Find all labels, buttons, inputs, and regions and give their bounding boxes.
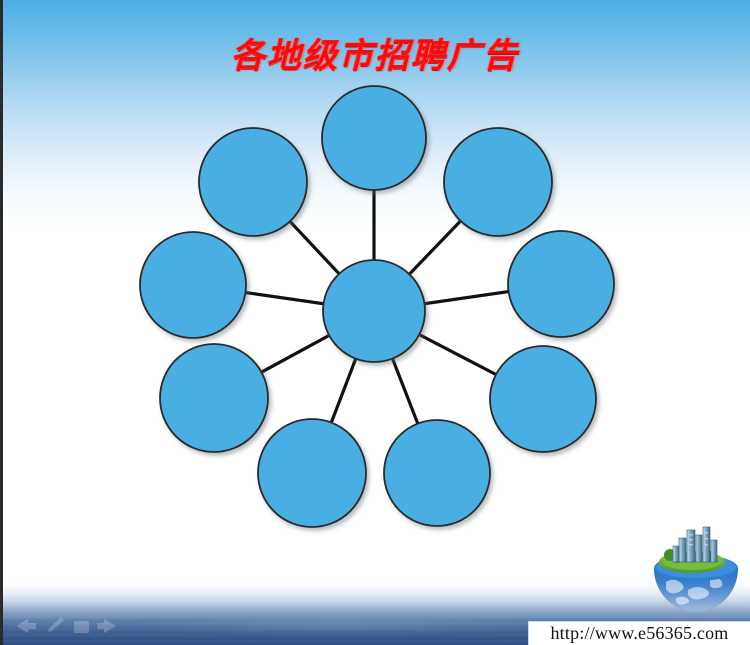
- radial-diagram: [0, 0, 750, 645]
- slide-canvas: 各地级市招聘广告: [0, 0, 750, 645]
- site-url[interactable]: http://www.e56365.com: [550, 623, 728, 644]
- url-plate: http://www.e56365.com: [528, 621, 750, 645]
- center-node: [323, 260, 425, 362]
- node-right: [508, 231, 614, 337]
- radial-diagram-svg: [0, 0, 750, 645]
- globe-city-logo: [648, 524, 744, 616]
- node-left: [140, 232, 246, 338]
- node-upper-left: [199, 128, 307, 236]
- node-top: [322, 86, 426, 190]
- node-bottom-left: [258, 419, 366, 527]
- center-node-group: [323, 260, 425, 362]
- node-upper-right: [444, 128, 552, 236]
- node-lower-left: [160, 344, 268, 452]
- node-bottom-right: [384, 420, 490, 526]
- node-lower-right: [490, 346, 596, 452]
